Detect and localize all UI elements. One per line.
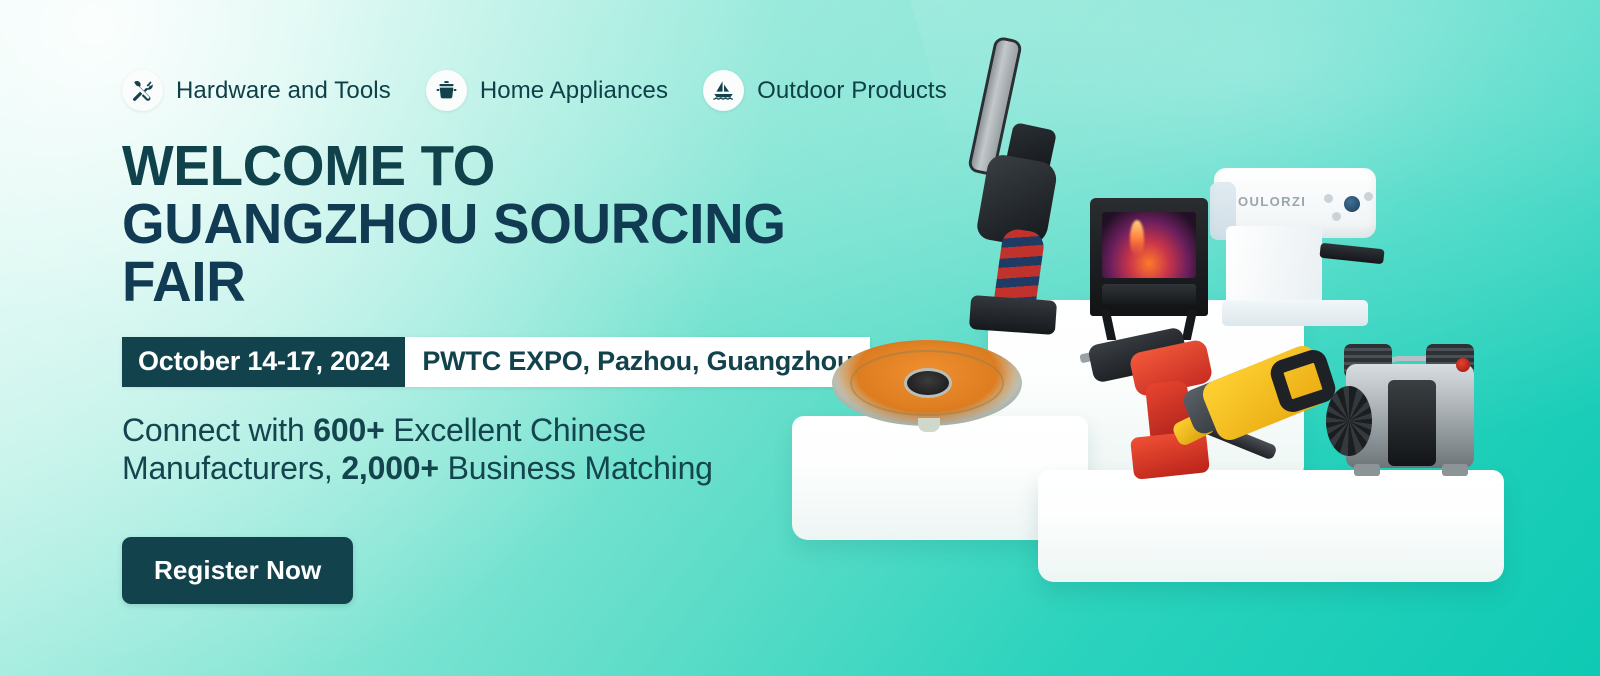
product-showcase: OULORZI	[760, 0, 1600, 676]
page-title: WELCOME TO GUANGZHOU SOURCING FAIR	[122, 137, 852, 311]
cooking-pot-icon	[426, 70, 467, 111]
electric-fireplace-heater-product	[1090, 198, 1208, 340]
coffee-machine-brand: OULORZI	[1238, 194, 1306, 209]
promotional-banner: Hardware and Tools Home Appliances	[0, 0, 1600, 676]
subtitle-part-3: Business Matching	[439, 450, 713, 486]
subtitle-stat-2: 2,000+	[341, 450, 439, 486]
air-compressor-product	[1316, 340, 1506, 490]
sailboat-icon	[703, 70, 744, 111]
mini-chainsaw-product	[960, 30, 1068, 330]
subtitle: Connect with 600+ Excellent Chinese Manu…	[122, 411, 822, 487]
subtitle-part-1: Connect with	[122, 412, 313, 448]
category-label: Home Appliances	[480, 77, 668, 105]
event-date: October 14-17, 2024	[122, 337, 405, 387]
category-hardware-and-tools[interactable]: Hardware and Tools	[122, 70, 391, 111]
gas-burner-product	[832, 326, 1022, 430]
category-home-appliances[interactable]: Home Appliances	[426, 70, 668, 111]
event-info-badge: October 14-17, 2024 PWTC EXPO, Pazhou, G…	[122, 337, 870, 387]
tools-icon	[122, 70, 163, 111]
register-now-button[interactable]: Register Now	[122, 537, 353, 604]
headline-line-1: WELCOME TO	[122, 137, 852, 195]
category-label: Hardware and Tools	[176, 77, 391, 105]
espresso-coffee-machine-product: OULORZI	[1204, 168, 1386, 326]
headline-line-2: GUANGZHOU SOURCING FAIR	[122, 195, 852, 311]
subtitle-stat-1: 600+	[313, 412, 384, 448]
